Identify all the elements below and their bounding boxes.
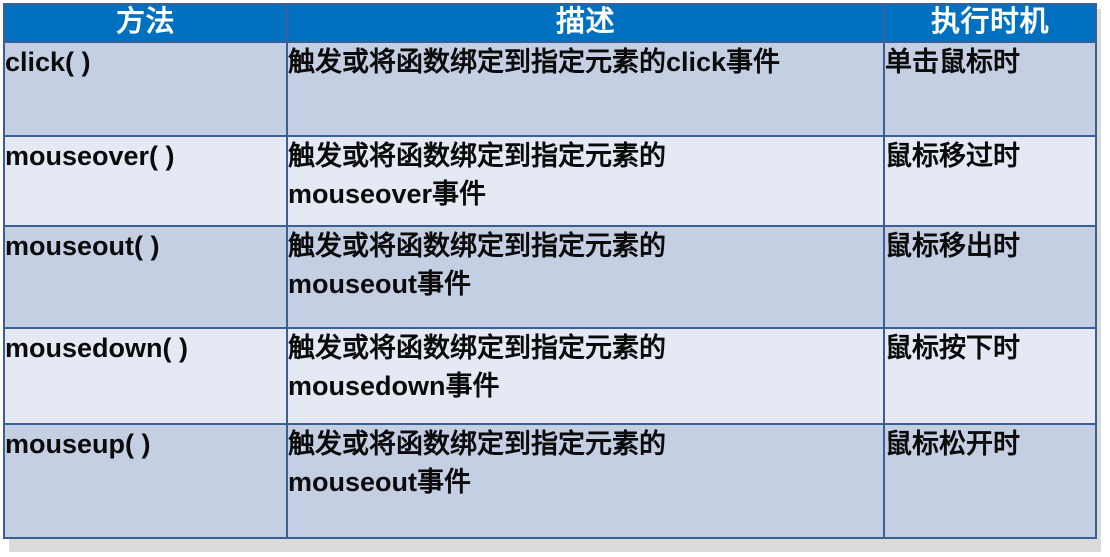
cell-method: mousedown( ) bbox=[4, 328, 287, 424]
method-name: click( ) bbox=[5, 43, 286, 81]
cell-description: 触发或将函数绑定到指定元素的click事件 bbox=[287, 42, 884, 136]
method-timing: 鼠标移出时 bbox=[885, 227, 1095, 265]
cell-description: 触发或将函数绑定到指定元素的 mouseout事件 bbox=[287, 226, 884, 328]
table-body: click( ) 触发或将函数绑定到指定元素的click事件 单击鼠标时 mou… bbox=[4, 42, 1096, 538]
cell-description: 触发或将函数绑定到指定元素的 mousedown事件 bbox=[287, 328, 884, 424]
method-description: 触发或将函数绑定到指定元素的 mousedown事件 bbox=[288, 329, 883, 405]
cell-timing: 鼠标移过时 bbox=[884, 136, 1096, 226]
cell-method: click( ) bbox=[4, 42, 287, 136]
cell-timing: 鼠标松开时 bbox=[884, 424, 1096, 538]
table-row: mouseover( ) 触发或将函数绑定到指定元素的 mouseover事件 … bbox=[4, 136, 1096, 226]
method-timing: 鼠标移过时 bbox=[885, 137, 1095, 175]
method-timing: 单击鼠标时 bbox=[885, 43, 1095, 81]
cell-method: mouseout( ) bbox=[4, 226, 287, 328]
cell-description: 触发或将函数绑定到指定元素的 mouseout事件 bbox=[287, 424, 884, 538]
column-header-method: 方法 bbox=[4, 4, 287, 42]
column-header-description: 描述 bbox=[287, 4, 884, 42]
method-name: mouseout( ) bbox=[5, 227, 286, 265]
method-name: mouseover( ) bbox=[5, 137, 286, 175]
cell-timing: 单击鼠标时 bbox=[884, 42, 1096, 136]
table-row: mouseup( ) 触发或将函数绑定到指定元素的 mouseout事件 鼠标松… bbox=[4, 424, 1096, 538]
table-row: mouseout( ) 触发或将函数绑定到指定元素的 mouseout事件 鼠标… bbox=[4, 226, 1096, 328]
method-description: 触发或将函数绑定到指定元素的 mouseout事件 bbox=[288, 227, 883, 303]
table-row: mousedown( ) 触发或将函数绑定到指定元素的 mousedown事件 … bbox=[4, 328, 1096, 424]
method-timing: 鼠标按下时 bbox=[885, 329, 1095, 367]
column-header-description-label: 描述 bbox=[288, 5, 883, 39]
column-header-method-label: 方法 bbox=[5, 5, 286, 39]
cell-timing: 鼠标移出时 bbox=[884, 226, 1096, 328]
column-header-timing-label: 执行时机 bbox=[885, 5, 1095, 39]
jquery-mouse-events-table: 方法 描述 执行时机 click( ) 触发或将函数绑定到指定元素的click事… bbox=[3, 3, 1097, 539]
page-canvas: 方法 描述 执行时机 click( ) 触发或将函数绑定到指定元素的click事… bbox=[0, 0, 1110, 557]
table-header-row: 方法 描述 执行时机 bbox=[4, 4, 1096, 42]
cell-method: mouseover( ) bbox=[4, 136, 287, 226]
cell-timing: 鼠标按下时 bbox=[884, 328, 1096, 424]
table-header: 方法 描述 执行时机 bbox=[4, 4, 1096, 42]
column-header-timing: 执行时机 bbox=[884, 4, 1096, 42]
cell-method: mouseup( ) bbox=[4, 424, 287, 538]
method-description: 触发或将函数绑定到指定元素的 mouseout事件 bbox=[288, 425, 883, 501]
method-name: mousedown( ) bbox=[5, 329, 286, 367]
table-row: click( ) 触发或将函数绑定到指定元素的click事件 单击鼠标时 bbox=[4, 42, 1096, 136]
method-name: mouseup( ) bbox=[5, 425, 286, 463]
method-timing: 鼠标松开时 bbox=[885, 425, 1095, 463]
method-description: 触发或将函数绑定到指定元素的click事件 bbox=[288, 43, 883, 81]
cell-description: 触发或将函数绑定到指定元素的 mouseover事件 bbox=[287, 136, 884, 226]
method-description: 触发或将函数绑定到指定元素的 mouseover事件 bbox=[288, 137, 883, 213]
